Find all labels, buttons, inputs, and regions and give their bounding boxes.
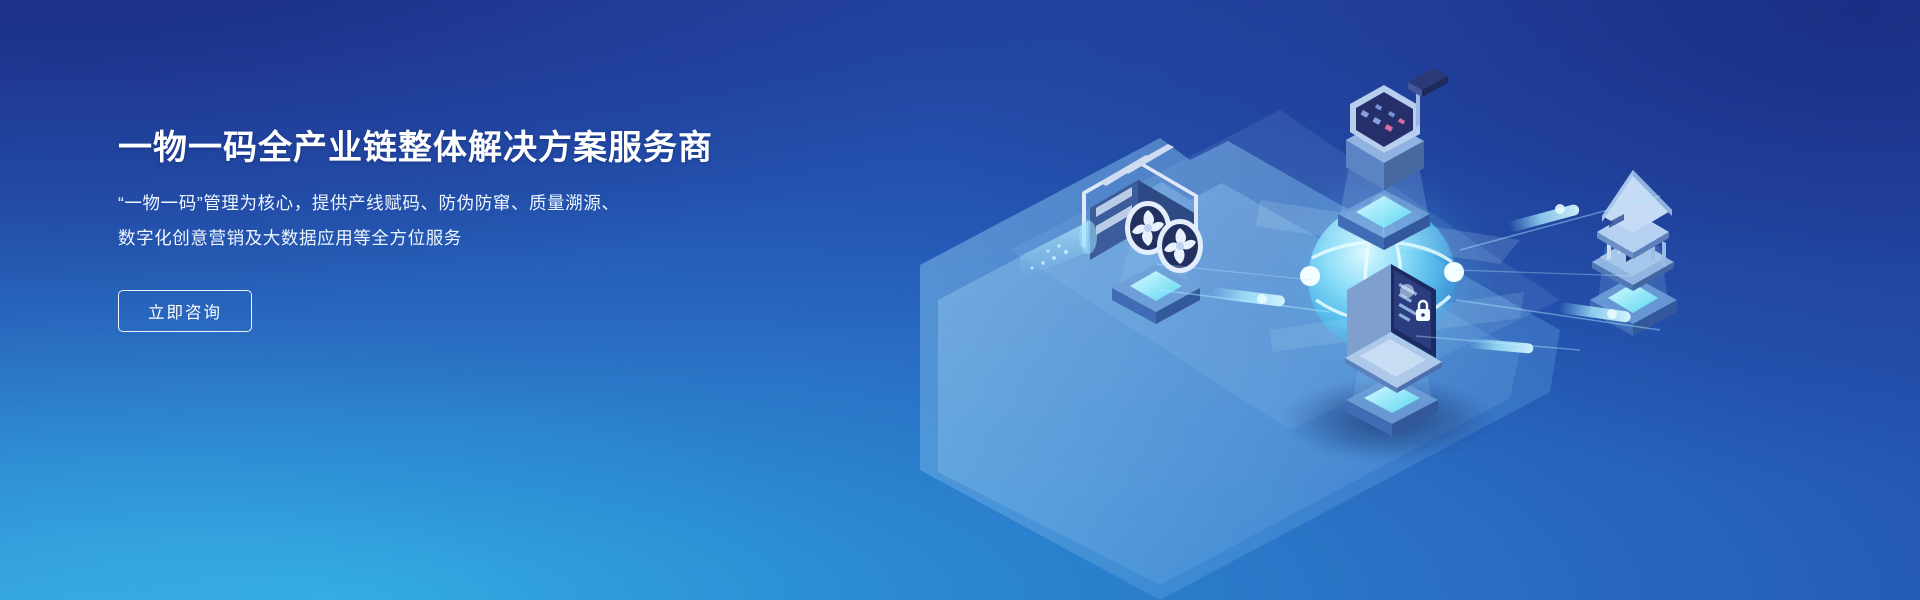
hero-banner: 一物一码全产业链整体解决方案服务商 “一物一码”管理为核心，提供产线赋码、防伪防… [0, 0, 1920, 600]
hero-copy-block: 一物一码全产业链整体解决方案服务商 “一物一码”管理为核心，提供产线赋码、防伪防… [118, 126, 778, 332]
consult-now-button[interactable]: 立即咨询 [118, 290, 252, 332]
laptop-security-icon [1345, 264, 1442, 436]
hero-subtitle: “一物一码”管理为核心，提供产线赋码、防伪防窜、质量溯源、 数字化创意营销及大数… [118, 186, 778, 256]
page-title: 一物一码全产业链整体解决方案服务商 [118, 126, 778, 170]
subtitle-line-2: 数字化创意营销及大数据应用等全方位服务 [118, 221, 778, 256]
subtitle-line-1: “一物一码”管理为核心，提供产线赋码、防伪防窜、质量溯源、 [118, 186, 778, 221]
isometric-illustration [860, 0, 1920, 600]
